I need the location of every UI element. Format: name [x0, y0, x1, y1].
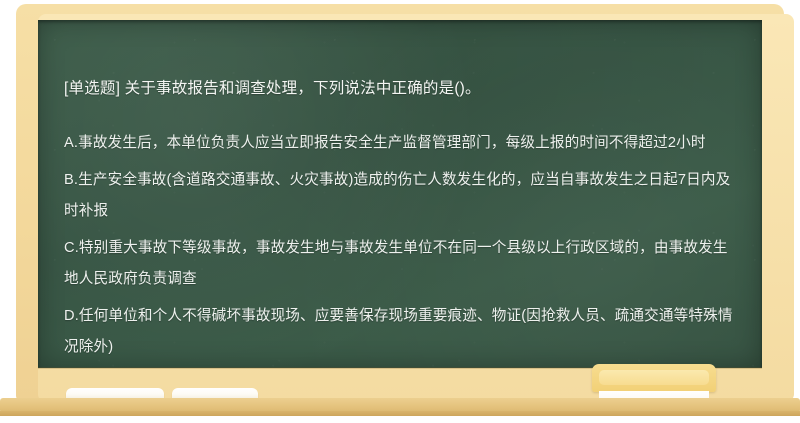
- eraser-handle-inner: [599, 370, 709, 385]
- eraser-handle: [592, 364, 716, 392]
- chalkboard-surface: [单选题] 关于事故报告和调查处理，下列说法中正确的是()。 A.事故发生后，本…: [38, 20, 762, 368]
- option-c[interactable]: C.特别重大事故下等级事故，事故发生地与事故发生单位不在同一个县级以上行政区域的…: [64, 233, 740, 295]
- chalkboard-question-card: [单选题] 关于事故报告和调查处理，下列说法中正确的是()。 A.事故发生后，本…: [0, 0, 800, 423]
- options-list: A.事故发生后，本单位负责人应当立即报告安全生产监督管理部门，每级上报的时间不得…: [64, 128, 740, 363]
- option-a[interactable]: A.事故发生后，本单位负责人应当立即报告安全生产监督管理部门，每级上报的时间不得…: [64, 128, 740, 159]
- chalk-tray-lip: [0, 411, 800, 416]
- option-b[interactable]: B.生产安全事故(含道路交通事故、火灾事故)造成的伤亡人数发生化的，应当自事故发…: [64, 165, 740, 227]
- option-d[interactable]: D.任何单位和个人不得碱坏事故现场、应要善保存现场重要痕迹、物证(因抢救人员、疏…: [64, 301, 740, 363]
- question-content: [单选题] 关于事故报告和调查处理，下列说法中正确的是()。 A.事故发生后，本…: [64, 20, 744, 368]
- question-title: [单选题] 关于事故报告和调查处理，下列说法中正确的是()。: [64, 78, 738, 100]
